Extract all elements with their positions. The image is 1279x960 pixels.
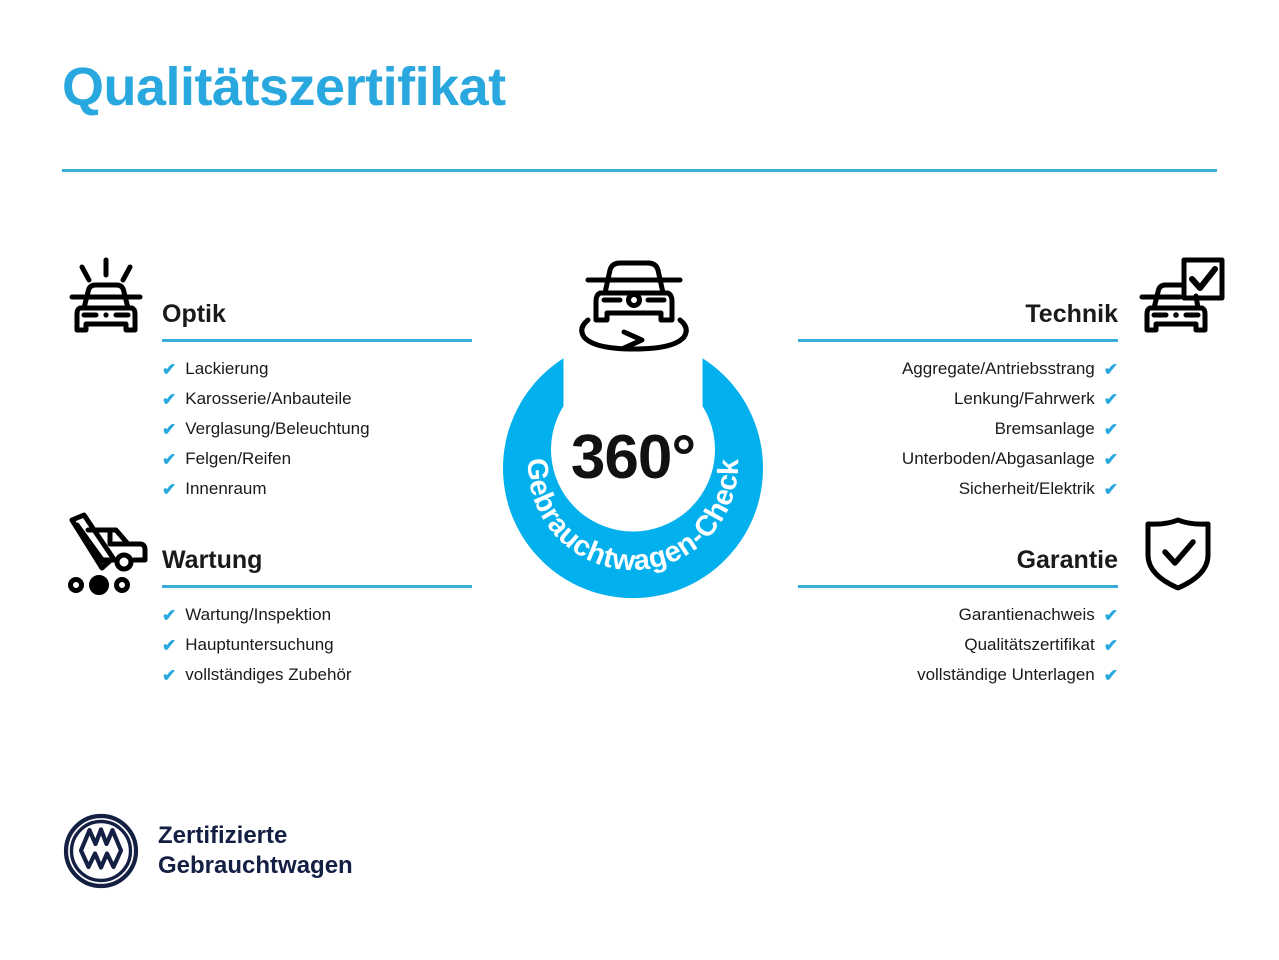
section-title-wartung: Wartung (162, 542, 472, 578)
list-item: ✔ vollständiges Zubehör (162, 660, 472, 690)
list-item-label: Innenraum (185, 474, 266, 504)
section-title-technik: Technik (798, 296, 1118, 332)
list-item-label: Felgen/Reifen (185, 444, 291, 474)
check-icon: ✔ (162, 667, 176, 684)
checklist-wartung: ✔ Wartung/Inspektion ✔ Hauptuntersuchung… (162, 600, 472, 690)
list-item-label: Lenkung/Fahrwerk (954, 384, 1095, 414)
list-item: ✔ Lackierung (162, 354, 472, 384)
check-icon: ✔ (162, 607, 176, 624)
list-item-label: Hauptuntersuchung (185, 630, 333, 660)
list-item-label: Garantienachweis (959, 600, 1095, 630)
section-garantie: Garantie Garantienachweis ✔ Qualitätszer… (798, 542, 1118, 690)
list-item: Bremsanlage ✔ (798, 414, 1118, 444)
section-header-technik: Technik (798, 296, 1118, 342)
section-divider-wartung (162, 585, 472, 588)
badge-center-label: 360° (468, 422, 798, 493)
vw-certified-text: Zertifizierte Gebrauchtwagen (158, 821, 353, 881)
list-item: ✔ Karosserie/Anbauteile (162, 384, 472, 414)
check-icon: ✔ (162, 421, 176, 438)
list-item: ✔ Innenraum (162, 474, 472, 504)
list-item: Garantienachweis ✔ (798, 600, 1118, 630)
section-divider-garantie (798, 585, 1118, 588)
check-icon: ✔ (162, 391, 176, 408)
check-icon: ✔ (1104, 451, 1118, 468)
list-item: vollständige Unterlagen ✔ (798, 660, 1118, 690)
section-divider-technik (798, 339, 1118, 342)
list-item-label: Verglasung/Beleuchtung (185, 414, 369, 444)
car-front-sparkle-icon (60, 256, 152, 349)
title-divider (62, 169, 1217, 172)
car-rotate-360-icon (564, 248, 704, 360)
vw-text-line2: Gebrauchtwagen (158, 851, 353, 881)
list-item: Unterboden/Abgasanlage ✔ (798, 444, 1118, 474)
list-item-label: vollständiges Zubehör (185, 660, 351, 690)
list-item: ✔ Verglasung/Beleuchtung (162, 414, 472, 444)
check-icon: ✔ (1104, 361, 1118, 378)
section-title-garantie: Garantie (798, 542, 1118, 578)
list-item: ✔ Wartung/Inspektion (162, 600, 472, 630)
section-header-garantie: Garantie (798, 542, 1118, 588)
list-item-label: Lackierung (185, 354, 268, 384)
section-divider-optik (162, 339, 472, 342)
list-item: Aggregate/Antriebsstrang ✔ (798, 354, 1118, 384)
checklist-technik: Aggregate/Antriebsstrang ✔ Lenkung/Fahrw… (798, 354, 1118, 504)
check-icon: ✔ (1104, 421, 1118, 438)
section-header-optik: Optik (162, 296, 472, 342)
list-item-label: Qualitätszertifikat (964, 630, 1094, 660)
vw-text-line1: Zertifizierte (158, 821, 353, 851)
check-icon: ✔ (162, 451, 176, 468)
list-item: ✔ Hauptuntersuchung (162, 630, 472, 660)
section-title-optik: Optik (162, 296, 472, 332)
section-wartung: Wartung ✔ Wartung/Inspektion ✔ Hauptunte… (162, 542, 472, 690)
check-icon: ✔ (1104, 667, 1118, 684)
volkswagen-logo-icon (62, 812, 140, 890)
car-front-checkbox-icon (1134, 256, 1226, 349)
section-header-wartung: Wartung (162, 542, 472, 588)
list-item-label: Bremsanlage (995, 414, 1095, 444)
vw-certified-lockup: Zertifizierte Gebrauchtwagen (62, 812, 353, 890)
section-optik: Optik ✔ Lackierung ✔ Karosserie/Anbautei… (162, 296, 472, 504)
list-item: Sicherheit/Elektrik ✔ (798, 474, 1118, 504)
list-item-label: Karosserie/Anbauteile (185, 384, 351, 414)
list-item-label: Wartung/Inspektion (185, 600, 331, 630)
pencil-car-service-icon (58, 508, 154, 601)
list-item: Qualitätszertifikat ✔ (798, 630, 1118, 660)
list-item-label: Aggregate/Antriebsstrang (902, 354, 1095, 384)
check-icon: ✔ (1104, 607, 1118, 624)
list-item: ✔ Felgen/Reifen (162, 444, 472, 474)
check-icon: ✔ (1104, 481, 1118, 498)
list-item-label: Unterboden/Abgasanlage (902, 444, 1095, 474)
list-item-label: vollständige Unterlagen (917, 660, 1095, 690)
section-technik: Technik Aggregate/Antriebsstrang ✔ Lenku… (798, 296, 1118, 504)
checklist-optik: ✔ Lackierung ✔ Karosserie/Anbauteile ✔ V… (162, 354, 472, 504)
shield-check-icon (1142, 515, 1214, 598)
checklist-garantie: Garantienachweis ✔ Qualitätszertifikat ✔… (798, 600, 1118, 690)
list-item: Lenkung/Fahrwerk ✔ (798, 384, 1118, 414)
check-icon: ✔ (162, 481, 176, 498)
check-icon: ✔ (162, 637, 176, 654)
gebrauchtwagen-check-badge: Gebrauchtwagen-Check 360° (468, 300, 798, 630)
check-icon: ✔ (162, 361, 176, 378)
page-title: Qualitätszertifikat (62, 58, 506, 117)
check-icon: ✔ (1104, 637, 1118, 654)
list-item-label: Sicherheit/Elektrik (959, 474, 1095, 504)
check-icon: ✔ (1104, 391, 1118, 408)
